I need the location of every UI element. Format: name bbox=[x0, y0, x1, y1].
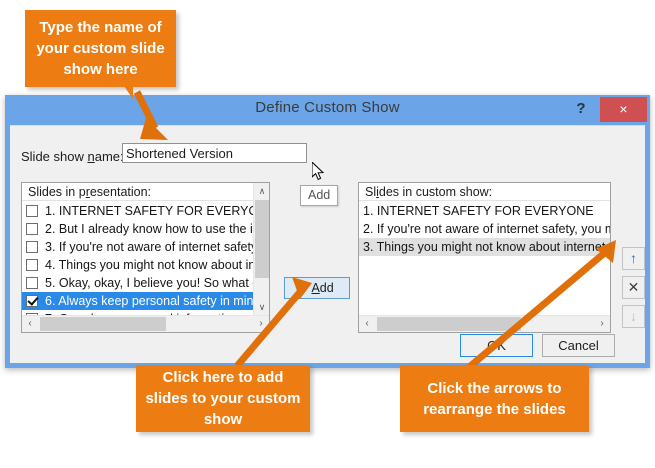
slides-in-custom-show-label: Slides in custom show: bbox=[359, 183, 610, 201]
vertical-scrollbar[interactable]: ∧ ∨ bbox=[253, 183, 269, 315]
move-down-button[interactable]: ↓ bbox=[622, 305, 645, 328]
callout-add-hint: Click here to add slides to your custom … bbox=[136, 365, 310, 432]
list-item-label: 2. But I already know how to use the int… bbox=[45, 220, 254, 238]
list-item[interactable]: 1. INTERNET SAFETY FOR EVERYONE bbox=[22, 202, 254, 220]
list-item[interactable]: 3. If you're not aware of internet safet… bbox=[22, 238, 254, 256]
list-item[interactable]: 4. Things you might not know about int bbox=[22, 256, 254, 274]
slide-show-name-input[interactable] bbox=[122, 143, 307, 163]
scroll-down-icon[interactable]: ∨ bbox=[254, 299, 270, 315]
slides-in-custom-show-items: 1. INTERNET SAFETY FOR EVERYONE 2. If yo… bbox=[359, 202, 610, 315]
callout-name-hint-text: Type the name of your custom slide show … bbox=[33, 17, 168, 80]
cancel-button[interactable]: Cancel bbox=[542, 334, 615, 357]
list-item-selected[interactable]: 3. Things you might not know about inter… bbox=[359, 238, 610, 256]
callout-arrows-hint: Click the arrows to rearrange the slides bbox=[400, 365, 589, 432]
ok-button[interactable]: OK bbox=[460, 334, 533, 357]
scroll-up-icon[interactable]: ∧ bbox=[254, 183, 270, 199]
horizontal-scrollbar[interactable]: ‹ › bbox=[359, 315, 610, 332]
callout-name-hint: Type the name of your custom slide show … bbox=[25, 10, 176, 87]
scroll-left-icon[interactable]: ‹ bbox=[359, 316, 375, 332]
list-item-label: 3. If you're not aware of internet safet… bbox=[45, 238, 254, 256]
double-chevron-right-icon: » bbox=[300, 282, 304, 294]
slides-in-presentation-listbox[interactable]: Slides in presentation: 1. INTERNET SAFE… bbox=[21, 182, 270, 333]
checkbox-icon[interactable] bbox=[26, 223, 38, 235]
move-up-button[interactable]: ↑ bbox=[622, 247, 645, 270]
scrollbar-thumb[interactable] bbox=[40, 317, 166, 331]
slides-in-custom-show-listbox[interactable]: Slides in custom show: 1. INTERNET SAFET… bbox=[358, 182, 611, 333]
list-item-label: 3. Things you might not know about inter… bbox=[363, 238, 610, 256]
list-item-label: 4. Things you might not know about int bbox=[45, 256, 254, 274]
dialog-title: Define Custom Show bbox=[5, 99, 650, 116]
list-item-label: 2. If you're not aware of internet safet… bbox=[363, 220, 610, 238]
callout-tail bbox=[124, 86, 133, 99]
list-item-label: 5. Okay, okay, I believe you! So what ca… bbox=[45, 274, 254, 292]
add-tooltip: Add bbox=[300, 185, 338, 206]
list-item-selected[interactable]: 6. Always keep personal safety in mind. bbox=[22, 292, 254, 310]
checkbox-icon[interactable] bbox=[26, 259, 38, 271]
list-item-label: 1. INTERNET SAFETY FOR EVERYONE bbox=[363, 202, 594, 220]
list-item[interactable]: 2. But I already know how to use the int… bbox=[22, 220, 254, 238]
scroll-right-icon[interactable]: › bbox=[253, 316, 269, 332]
checkbox-icon[interactable] bbox=[26, 205, 38, 217]
dialog-body: Slide show name: Slides in presentation:… bbox=[10, 125, 645, 363]
help-icon[interactable]: ? bbox=[570, 98, 592, 120]
add-button-label: Add bbox=[311, 281, 333, 295]
arrow-down-icon: ↓ bbox=[630, 308, 637, 324]
list-item[interactable]: 2. If you're not aware of internet safet… bbox=[359, 220, 610, 238]
slides-in-presentation-label: Slides in presentation: bbox=[22, 183, 254, 201]
define-custom-show-dialog: Define Custom Show ? × Slide show name: … bbox=[5, 95, 650, 368]
checkbox-icon-checked[interactable] bbox=[26, 295, 38, 307]
horizontal-scrollbar[interactable]: ‹ › bbox=[22, 315, 269, 332]
scroll-left-icon[interactable]: ‹ bbox=[22, 316, 38, 332]
scroll-right-icon[interactable]: › bbox=[594, 316, 610, 332]
checkbox-icon[interactable] bbox=[26, 241, 38, 253]
scrollbar-thumb[interactable] bbox=[377, 317, 521, 331]
list-item-label: 1. INTERNET SAFETY FOR EVERYONE bbox=[45, 202, 254, 220]
mouse-cursor-icon bbox=[312, 162, 325, 181]
close-icon[interactable]: × bbox=[600, 97, 647, 122]
slides-in-presentation-items: 1. INTERNET SAFETY FOR EVERYONE 2. But I… bbox=[22, 202, 254, 315]
callout-add-hint-text: Click here to add slides to your custom … bbox=[144, 367, 302, 430]
list-item[interactable]: 5. Okay, okay, I believe you! So what ca… bbox=[22, 274, 254, 292]
slide-show-name-label: Slide show name: bbox=[21, 149, 124, 164]
list-item-label: 6. Always keep personal safety in mind. bbox=[45, 292, 254, 310]
close-x-icon: ✕ bbox=[628, 279, 640, 295]
remove-button[interactable]: ✕ bbox=[622, 276, 645, 299]
dialog-titlebar[interactable]: Define Custom Show ? × bbox=[5, 95, 650, 125]
checkbox-icon[interactable] bbox=[26, 277, 38, 289]
add-button[interactable]: » Add bbox=[284, 277, 350, 299]
list-item[interactable]: 1. INTERNET SAFETY FOR EVERYONE bbox=[359, 202, 610, 220]
arrow-up-icon: ↑ bbox=[630, 250, 637, 266]
callout-arrows-hint-text: Click the arrows to rearrange the slides bbox=[408, 378, 581, 420]
scrollbar-thumb[interactable] bbox=[255, 200, 269, 278]
